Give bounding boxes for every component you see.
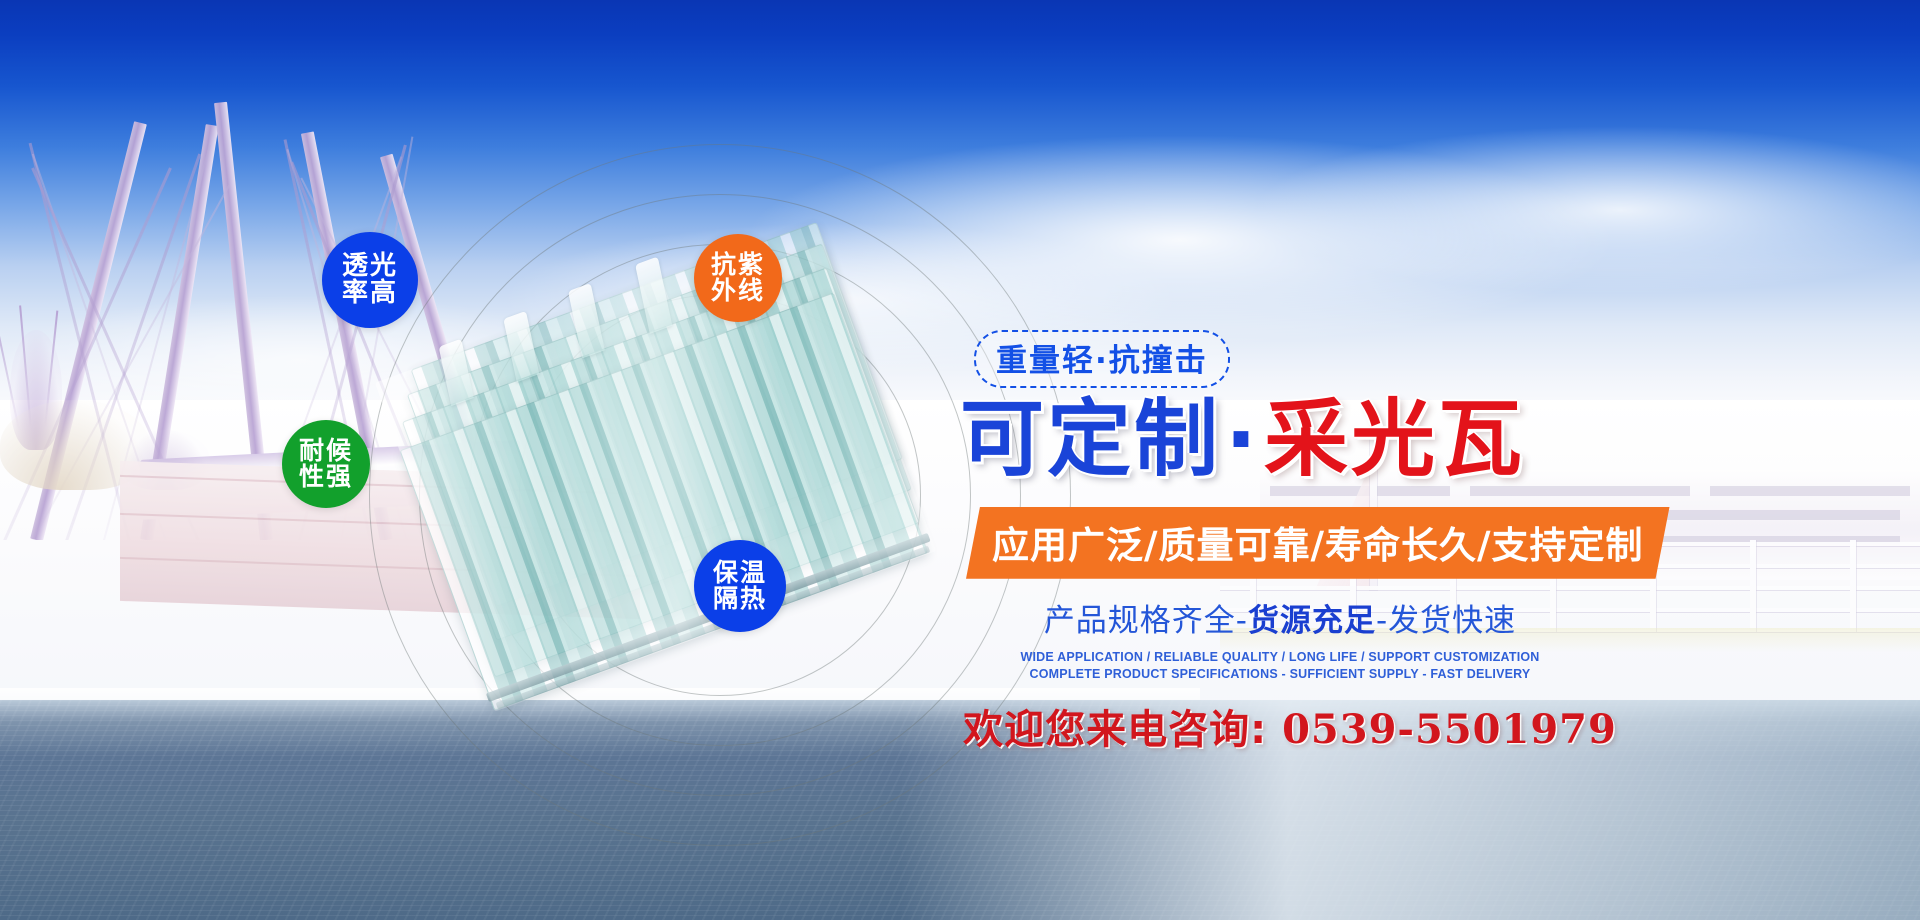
feature-badge-weather-resistant[interactable]: 耐候 性强 [282, 420, 370, 508]
phone-number: 0539-5501979 [1282, 706, 1617, 753]
feature-badge-line2: 隔热 [713, 586, 767, 612]
copy-column: 重量轻·抗撞击 可定制·采光瓦 应用广泛/质量可靠/寿命长久/支持定制 产品规格… [960, 330, 1660, 755]
feature-badge-line2: 外线 [711, 278, 765, 304]
feature-badge-line2: 率高 [342, 280, 398, 307]
contact-phone[interactable]: 欢迎您来电咨询: 0539-5501979 [960, 697, 1620, 755]
headline-separator: · [1221, 390, 1264, 488]
feature-badge-uv-resistant[interactable]: 抗紫 外线 [694, 234, 782, 322]
subline-before: 产品规格齐全- [1044, 603, 1248, 639]
promo-banner: 透光 率高 抗紫 外线 耐候 性强 保温 隔热 重量轻·抗撞击 可定制·采光瓦 … [0, 0, 1920, 920]
phone-label: 欢迎您来电咨询: [963, 707, 1267, 753]
feature-badge-line1: 透光 [342, 253, 398, 280]
feature-badge-line1: 耐候 [299, 438, 353, 464]
english-tagline-line1: WIDE APPLICATION / RELIABLE QUALITY / LO… [960, 650, 1600, 664]
feature-pill-badge: 重量轻·抗撞击 [974, 330, 1230, 388]
subline-emphasis: 货源充足 [1248, 603, 1376, 639]
feature-badge-transmittance[interactable]: 透光 率高 [322, 232, 418, 328]
supply-subline: 产品规格齐全-货源充足-发货快速 [960, 595, 1600, 640]
product-image-lighting-tile [430, 250, 950, 680]
subline-after: -发货快速 [1376, 603, 1516, 639]
feature-list-band: 应用广泛/质量可靠/寿命长久/支持定制 [966, 507, 1670, 579]
feature-badge-line1: 抗紫 [711, 252, 765, 278]
headline-red-part: 采光瓦 [1264, 390, 1525, 488]
page-title: 可定制·采光瓦 [960, 394, 1660, 485]
feature-badge-line1: 保温 [713, 560, 767, 586]
english-tagline-line2: COMPLETE PRODUCT SPECIFICATIONS - SUFFIC… [960, 667, 1600, 681]
feature-badge-thermal-insulation[interactable]: 保温 隔热 [694, 540, 786, 632]
feature-badge-line2: 性强 [299, 464, 353, 490]
headline-blue-part: 可定制 [960, 390, 1221, 488]
